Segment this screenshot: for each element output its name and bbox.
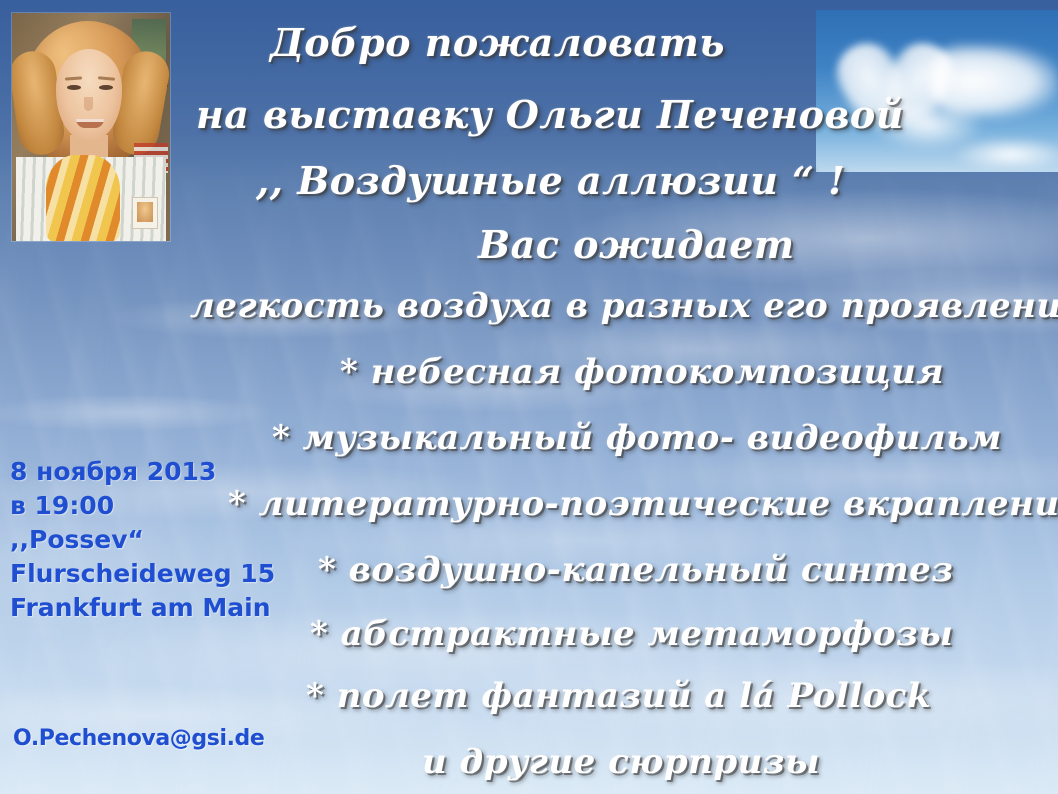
program-item: * небесная фотокомпозиция bbox=[340, 352, 944, 392]
portrait-nose bbox=[84, 97, 93, 111]
program-item: * литературно-поэтические вкрапления bbox=[228, 484, 1058, 524]
venue-street: Flurscheideweg 15 bbox=[10, 557, 310, 591]
program-item: * воздушно-капельный синтез bbox=[318, 550, 954, 590]
program-item: * музыкальный фото- видеофильм bbox=[272, 418, 1002, 458]
venue-name: ,,Possev“ bbox=[10, 523, 310, 557]
event-info-block: 8 ноября 2013 в 19:00 ,,Possev“ Flursche… bbox=[10, 455, 310, 625]
contact-email-link[interactable]: O.Pechenova@gsi.de bbox=[13, 726, 264, 751]
poster-main-text: Добро пожаловать на выставку Ольги Печен… bbox=[0, 0, 1058, 794]
headline-line: Вас ожидает bbox=[478, 222, 795, 267]
event-time: в 19:00 bbox=[10, 489, 310, 523]
event-poster: Добро пожаловать на выставку Ольги Печен… bbox=[0, 0, 1058, 794]
program-item: * абстрактные метаморфозы bbox=[310, 614, 953, 654]
portrait-scarf bbox=[46, 155, 120, 241]
headline-line: на выставку Ольги Печеновой bbox=[196, 92, 904, 137]
venue-city: Frankfurt am Main bbox=[10, 591, 310, 625]
headline-line: легкость воздуха в разных его проявления… bbox=[190, 286, 1058, 326]
portrait-eye-right bbox=[99, 85, 113, 90]
program-item: * полет фантазий а lá Pollock bbox=[306, 676, 931, 716]
event-date: 8 ноября 2013 bbox=[10, 455, 310, 489]
headline-line: Добро пожаловать bbox=[270, 20, 725, 65]
program-item: и другие сюрпризы bbox=[422, 742, 820, 782]
headline-line: ,, Воздушные аллюзии “ ! bbox=[256, 158, 845, 203]
portrait-name-badge bbox=[132, 197, 158, 229]
portrait-eye-left bbox=[67, 85, 81, 90]
